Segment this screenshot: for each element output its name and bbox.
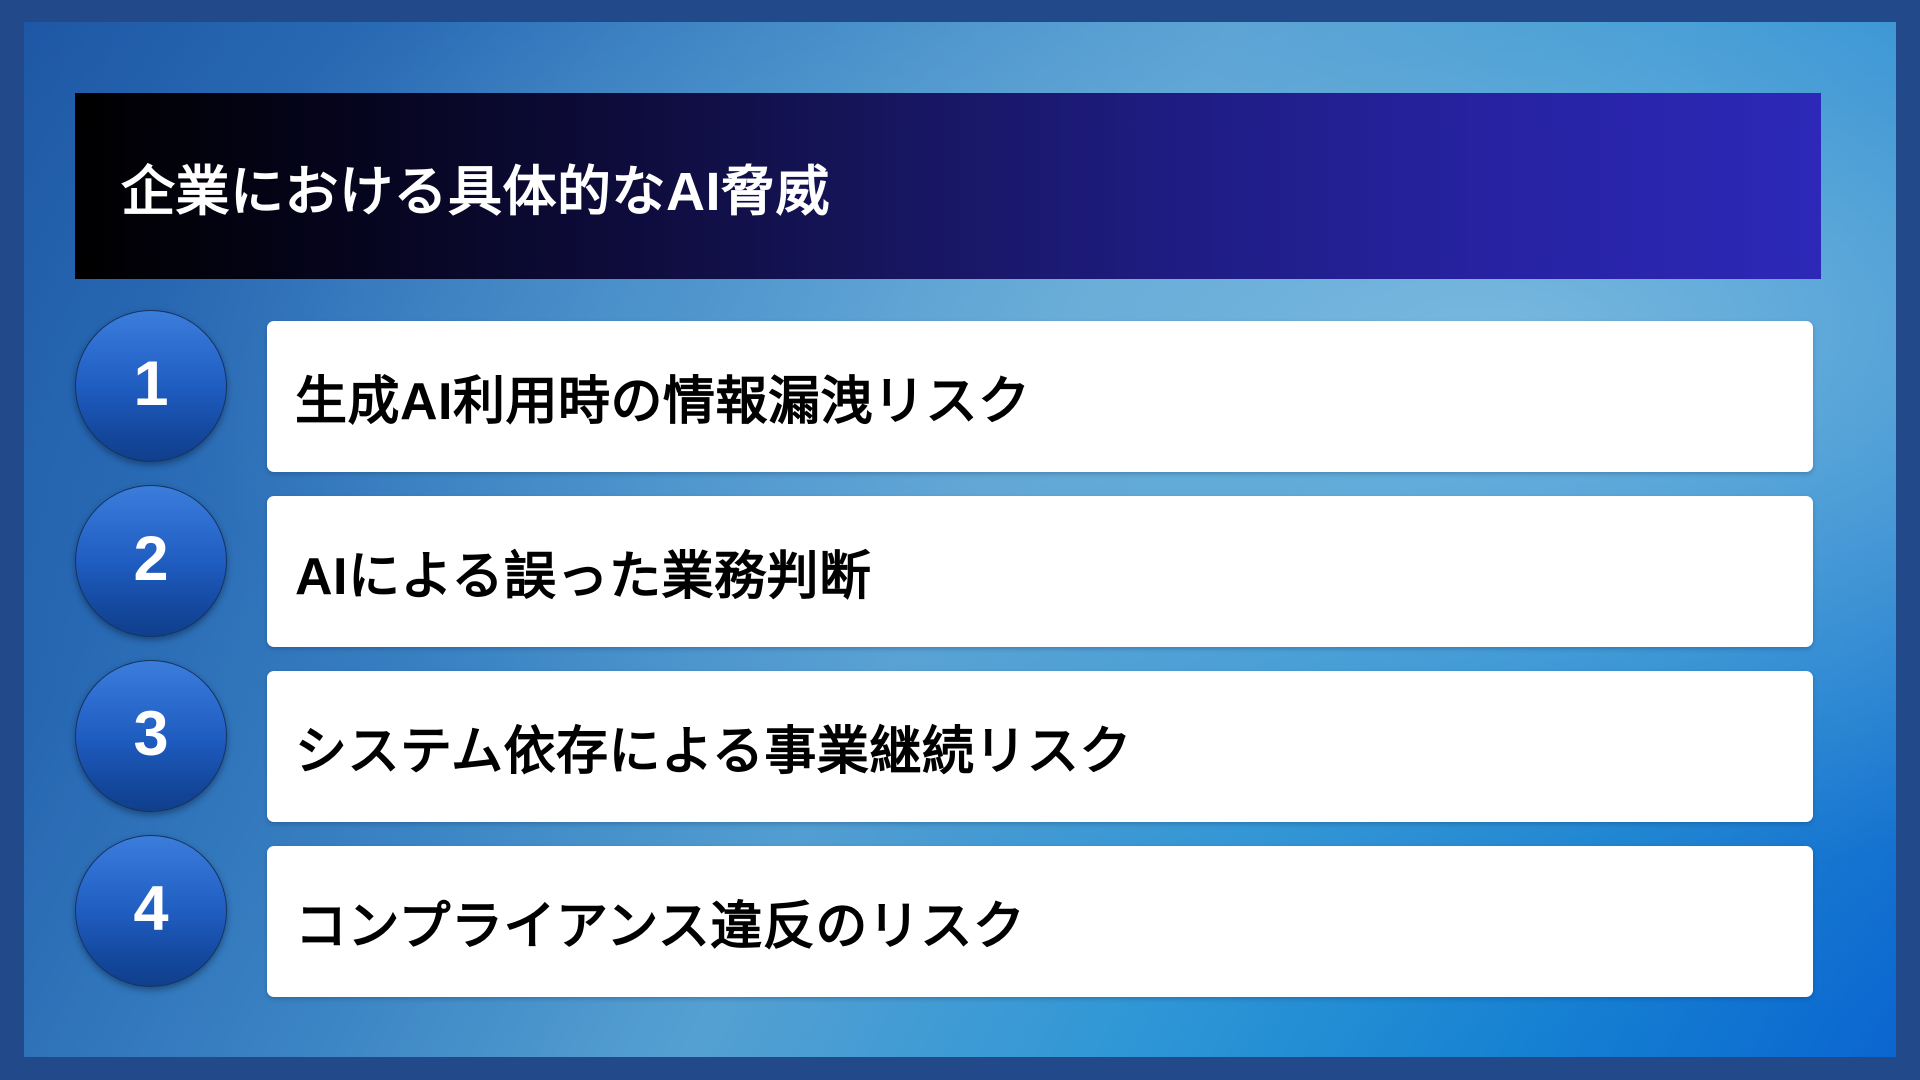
- title-banner: 企業における具体的なAI脅威: [75, 93, 1821, 279]
- list-item[interactable]: 4 コンプライアンス違反のリスク: [24, 846, 1896, 997]
- list-item-card[interactable]: 生成AI利用時の情報漏洩リスク: [267, 321, 1813, 472]
- list-item[interactable]: 2 AIによる誤った業務判断: [24, 496, 1896, 647]
- threat-list: 1 生成AI利用時の情報漏洩リスク 2 AIによる誤った業務判断 3: [24, 321, 1896, 997]
- list-item-number: 3: [133, 703, 168, 766]
- list-item-label: システム依存による事業継続リスク: [295, 709, 1132, 784]
- list-item-number: 1: [133, 353, 168, 416]
- list-item[interactable]: 1 生成AI利用時の情報漏洩リスク: [24, 321, 1896, 472]
- list-item-number: 2: [133, 528, 168, 591]
- list-item[interactable]: 3 システム依存による事業継続リスク: [24, 671, 1896, 822]
- list-item-number: 4: [133, 878, 168, 941]
- list-item-label: コンプライアンス違反のリスク: [295, 884, 1025, 959]
- list-item-number-badge: 3: [75, 660, 227, 812]
- list-item-label: AIによる誤った業務判断: [295, 534, 871, 609]
- slide: 企業における具体的なAI脅威 1 生成AI利用時の情報漏洩リスク 2 AIによる…: [0, 0, 1920, 1080]
- page-title: 企業における具体的なAI脅威: [121, 147, 830, 226]
- list-item-card[interactable]: システム依存による事業継続リスク: [267, 671, 1813, 822]
- slide-canvas: 企業における具体的なAI脅威 1 生成AI利用時の情報漏洩リスク 2 AIによる…: [24, 22, 1896, 1057]
- list-item-number-badge: 1: [75, 310, 227, 462]
- list-item-label: 生成AI利用時の情報漏洩リスク: [295, 359, 1031, 434]
- list-item-number-badge: 2: [75, 485, 227, 637]
- list-item-card[interactable]: AIによる誤った業務判断: [267, 496, 1813, 647]
- list-item-card[interactable]: コンプライアンス違反のリスク: [267, 846, 1813, 997]
- list-item-number-badge: 4: [75, 835, 227, 987]
